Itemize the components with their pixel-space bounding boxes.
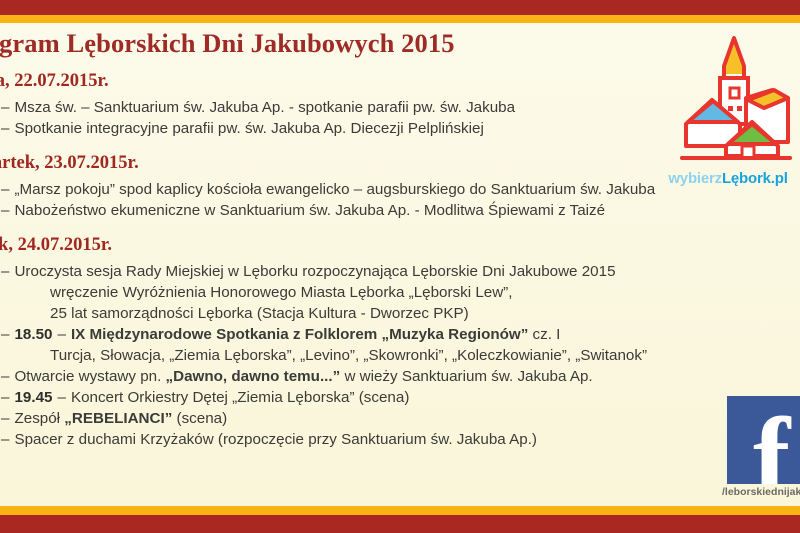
row-time-end: 19.45 (14, 387, 52, 408)
top-gold-band (0, 15, 800, 23)
page-title: Program Lęborskich Dni Jakubowych 2015 (0, 28, 758, 59)
program-row: 16.00 – Uroczysta sesja Rady Miejskiej w… (0, 261, 758, 282)
row-dash: – (0, 118, 14, 139)
program-row: 20.00 – Zespół „REBELIANCI” (scena) (0, 408, 758, 429)
program-row: 18.00 – Nabożeństwo ekumeniczne w Sanktu… (0, 200, 758, 221)
program-row: 16.30 – 18.50 – IX Międzynarodowe Spotka… (0, 324, 758, 345)
row-text-tail: (scena) (172, 410, 227, 427)
row-continuation: Turcja, Słowacja, „Ziemia Lęborska”, „Le… (0, 345, 758, 366)
row-dash: – (0, 179, 14, 200)
row-text: Uroczysta sesja Rady Miejskiej w Lęborku… (14, 261, 615, 282)
row-continuation: 25 lat samorządności Lęborka (Stacja Kul… (0, 303, 758, 324)
row-dash: – (0, 366, 14, 387)
row-continuation: wręczenie Wyróżnienia Honorowego Miasta … (0, 282, 758, 303)
logo-text-light: wybierz (668, 170, 722, 187)
program-row: 19.00 – 19.45 – Koncert Orkiestry Dętej … (0, 387, 758, 408)
row-text-bold: „REBELIANCI” (64, 410, 172, 427)
row-dash: – (0, 200, 14, 221)
row-text: Nabożeństwo ekumeniczne w Sanktuarium św… (14, 200, 605, 221)
day-heading-wednesday: Środa, 22.07.2015r. (0, 71, 758, 92)
program-content: Program Lęborskich Dni Jakubowych 2015 Ś… (0, 28, 758, 450)
row-dash: – (0, 408, 14, 429)
row-text: Msza św. – Sanktuarium św. Jakuba Ap. - … (14, 97, 515, 118)
bottom-red-band (0, 515, 800, 533)
row-text: Otwarcie wystawy pn. „Dawno, dawno temu.… (14, 366, 592, 387)
row-text: Spacer z duchami Krzyżaków (rozpoczęcie … (14, 429, 537, 450)
row-dash: – (0, 387, 14, 408)
row-text: IX Międzynarodowe Spotkania z Folklorem … (71, 324, 560, 345)
row-time-end: 18.50 (14, 324, 52, 345)
top-red-band (0, 0, 800, 15)
row-dash-2: – (52, 324, 70, 345)
row-dash-2: – (52, 387, 70, 408)
facebook-page-label: /leborskiednijakubowe (722, 486, 800, 498)
row-text-tail: w wieży Sanktuarium św. Jakuba Ap. (340, 368, 592, 385)
logo-wordmark: wybierzLębork.pl (652, 170, 800, 187)
poster-canvas: Program Lęborskich Dni Jakubowych 2015 Ś… (0, 0, 800, 533)
row-dash: – (0, 324, 14, 345)
day-heading-friday: Piątek, 24.07.2015r. (0, 235, 758, 256)
row-text-lead: Otwarcie wystawy pn. (14, 368, 165, 385)
row-dash: – (0, 429, 14, 450)
wybierz-lebork-logo[interactable]: wybierzLębork.pl (668, 34, 800, 194)
facebook-f-glyph: f (753, 402, 790, 484)
program-row: 18.00 – Msza św. – Sanktuarium św. Jakub… (0, 97, 758, 118)
row-dash: – (0, 261, 14, 282)
row-text: Spotkanie integracyjne parafii pw. św. J… (14, 118, 483, 139)
program-row: 19.00 – Spotkanie integracyjne parafii p… (0, 118, 758, 139)
day-heading-thursday: Czwartek, 23.07.2015r. (0, 153, 758, 174)
row-dash: – (0, 97, 14, 118)
row-text-bold: IX Międzynarodowe Spotkania z Folklorem … (71, 326, 528, 343)
row-text-tail: cz. I (528, 326, 560, 343)
program-row: 17.30 – „Marsz pokoju” spod kaplicy kośc… (0, 179, 758, 200)
facebook-icon[interactable]: f (727, 396, 800, 484)
row-text: „Marsz pokoju” spod kaplicy kościoła ewa… (14, 179, 655, 200)
logo-text-bold: Lębork.pl (722, 170, 788, 187)
row-text: Koncert Orkiestry Dętej „Ziemia Lęborska… (71, 387, 409, 408)
program-row: 21.30 – Spacer z duchami Krzyżaków (rozp… (0, 429, 758, 450)
church-town-icon (668, 34, 800, 170)
program-row: 17.15 – Otwarcie wystawy pn. „Dawno, daw… (0, 366, 758, 387)
bottom-gold-band (0, 506, 800, 515)
row-text: Zespół „REBELIANCI” (scena) (14, 408, 227, 429)
row-text-lead: Zespół (14, 410, 64, 427)
row-text-bold: „Dawno, dawno temu...” (166, 368, 341, 385)
